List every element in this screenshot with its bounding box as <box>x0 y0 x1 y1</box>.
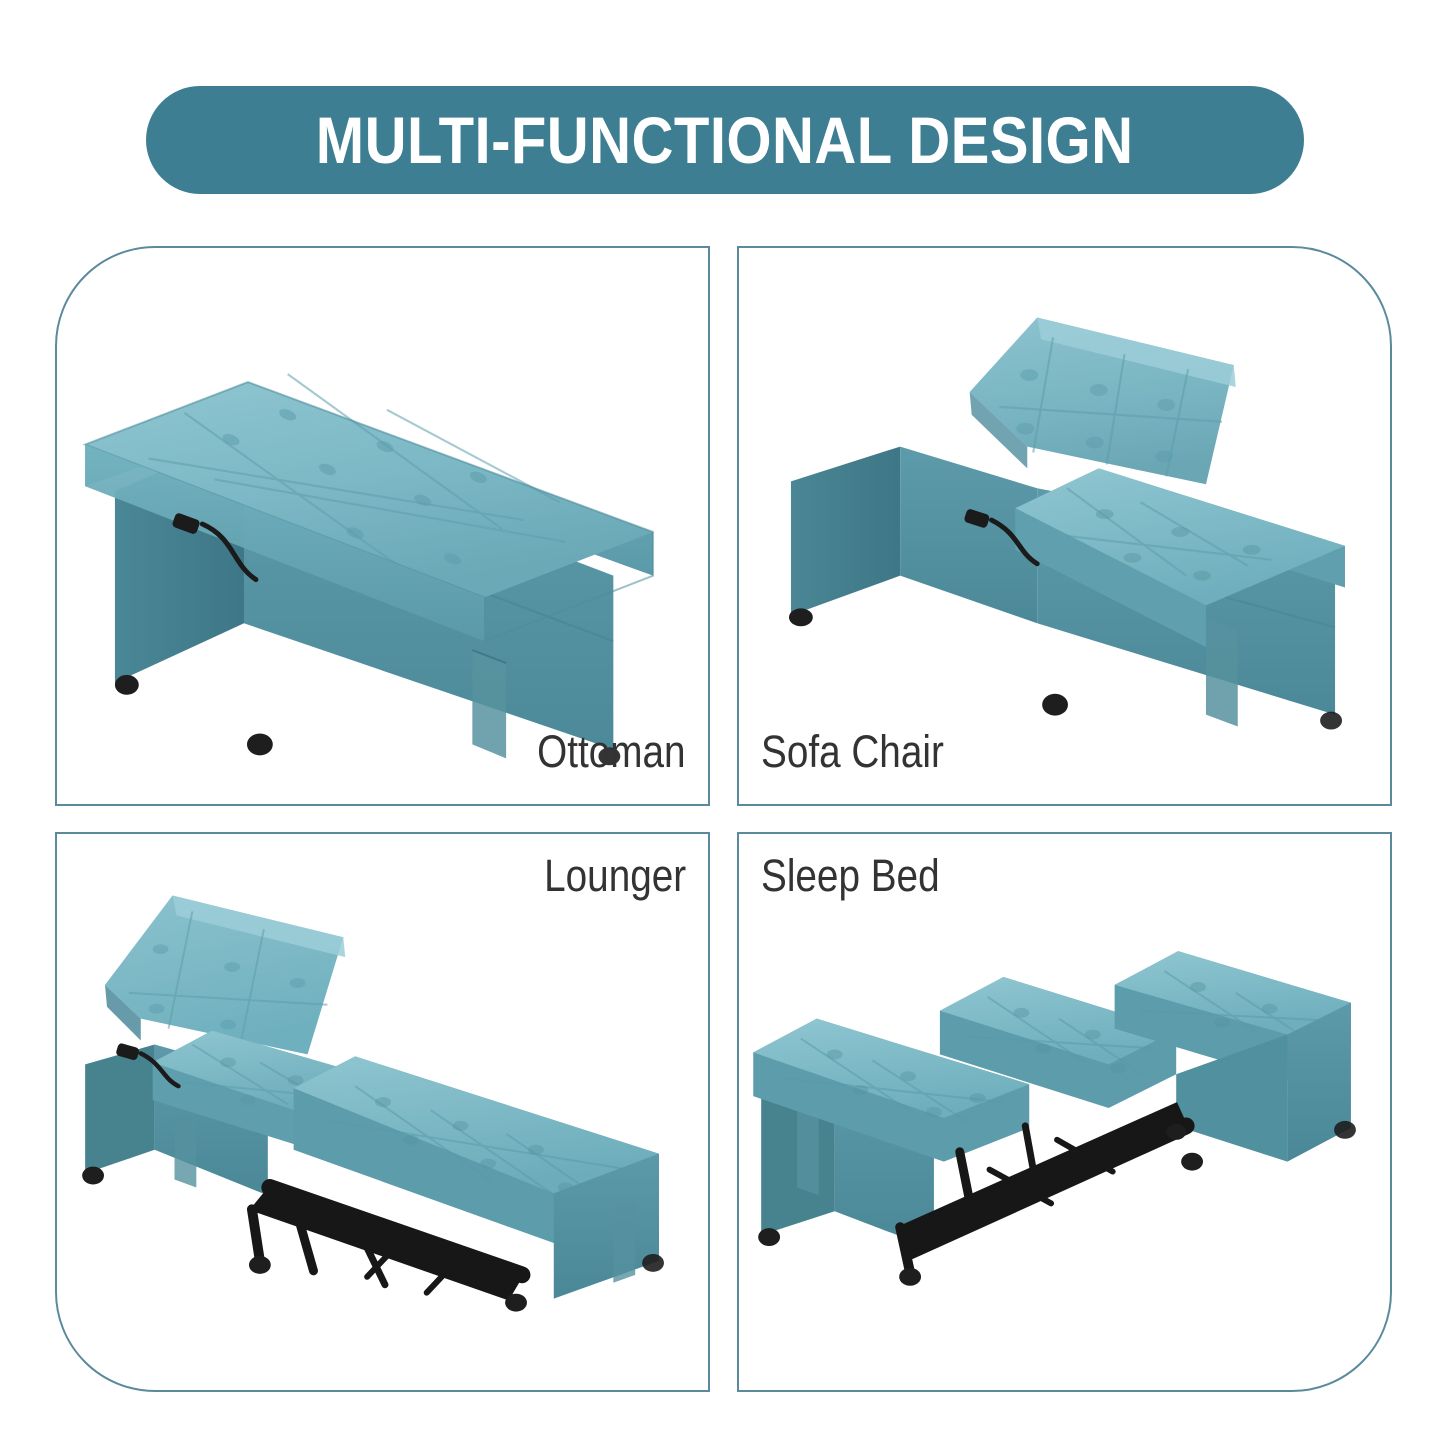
ottoman-closed-icon <box>57 248 708 804</box>
lounger-icon <box>57 834 708 1390</box>
panel-sleep-bed: Sleep Bed <box>737 832 1392 1392</box>
panel-sofa-chair: Sofa Chair <box>737 246 1392 806</box>
sofa-chair-icon <box>739 248 1390 804</box>
sleep-bed-icon <box>739 834 1390 1390</box>
panel-label-ottoman: Ottoman <box>538 726 686 778</box>
panel-label-sleep-bed: Sleep Bed <box>761 850 940 902</box>
feature-panel-grid: Ottoman <box>0 0 1445 1445</box>
panel-ottoman: Ottoman <box>55 246 710 806</box>
panel-label-lounger: Lounger <box>544 850 686 902</box>
panel-lounger: Lounger <box>55 832 710 1392</box>
panel-label-sofa-chair: Sofa Chair <box>761 726 944 778</box>
